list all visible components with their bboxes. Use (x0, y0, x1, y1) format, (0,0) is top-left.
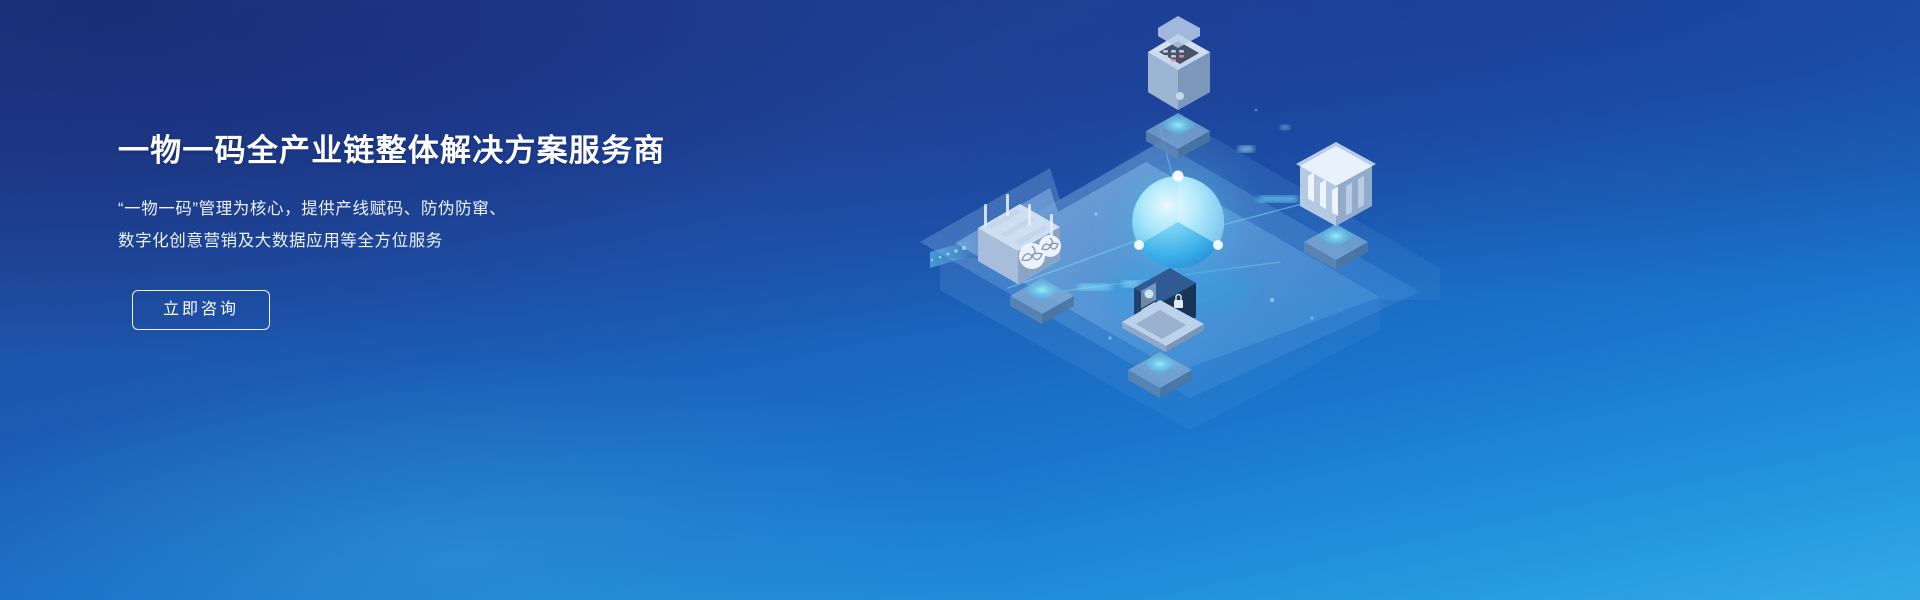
consult-now-button[interactable]: 立即咨询 (132, 290, 270, 330)
subtitle-line-1: “一物一码”管理为核心，提供产线赋码、防伪防窜、 (118, 193, 718, 225)
pos-terminal-icon (1148, 16, 1210, 110)
page-title: 一物一码全产业链整体解决方案服务商 (118, 131, 718, 171)
hero-illustration (860, 0, 1520, 600)
hero-banner: 一物一码全产业链整体解决方案服务商 “一物一码”管理为核心，提供产线赋码、防伪防… (0, 0, 1920, 600)
hero-subtitle: “一物一码”管理为核心，提供产线赋码、防伪防窜、 数字化创意营销及大数据应用等全… (118, 193, 718, 257)
hero-copy: 一物一码全产业链整体解决方案服务商 “一物一码”管理为核心，提供产线赋码、防伪防… (118, 131, 718, 330)
subtitle-line-2: 数字化创意营销及大数据应用等全方位服务 (118, 225, 718, 257)
